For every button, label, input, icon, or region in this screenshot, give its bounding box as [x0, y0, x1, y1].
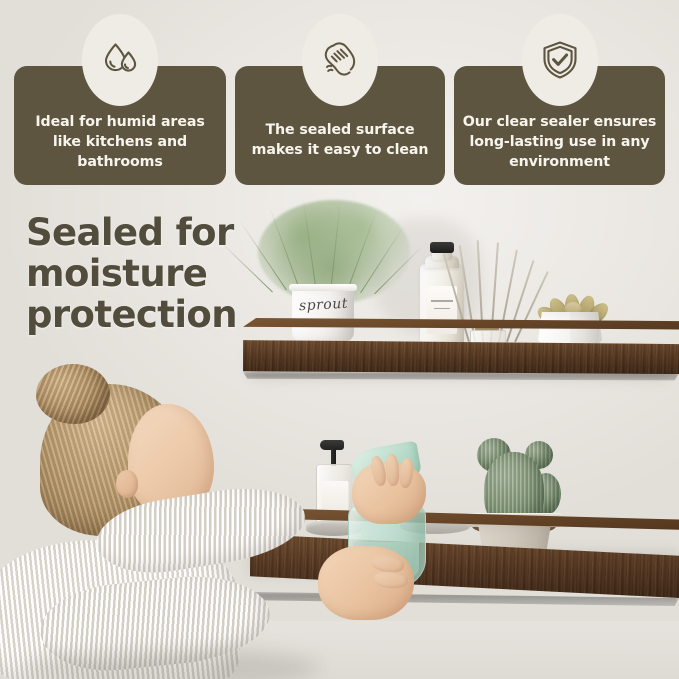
feature-card-humid-areas: Ideal for humid areas like kitchens and … [14, 66, 226, 185]
card-text-line-1: Ideal for humid areas [22, 112, 218, 132]
shield-check-icon [522, 14, 598, 106]
card-text-line-1: The sealed surface [243, 120, 437, 140]
feature-card-text: The sealed surface makes it easy to clea… [243, 120, 437, 160]
shelf-top-surface [250, 508, 679, 542]
girl-ear [116, 470, 138, 498]
headline-line-1: Sealed for [26, 212, 276, 253]
bottle-cap [430, 242, 454, 253]
label-line [434, 308, 451, 309]
card-text-line-2: like kitchens and [22, 132, 218, 152]
wood-grain [250, 534, 679, 598]
label-line [431, 300, 453, 302]
shelf-front-edge [250, 534, 679, 598]
feature-card-easy-to-clean: The sealed surface makes it easy to clea… [235, 66, 445, 185]
shelf-top-surface [243, 318, 679, 344]
feature-card-text: Our clear sealer ensures long-lasting us… [462, 112, 657, 172]
card-text-line-3: environment [462, 152, 657, 172]
girl-hair-bun [36, 364, 110, 424]
feature-card-row: Ideal for humid areas like kitchens and … [0, 0, 679, 200]
hand-wiping-cloth-icon [302, 14, 378, 106]
card-text-line-2: long-lasting use in any [462, 132, 657, 152]
headline-line-2: moisture [26, 253, 276, 294]
pot-script-label: sprout [299, 296, 349, 315]
shelf-front-edge [243, 340, 679, 374]
page-title: Sealed for moisture protection [26, 212, 276, 335]
lower-shelf [250, 508, 679, 644]
pot-rim [289, 284, 357, 291]
feature-card-clear-sealer: Our clear sealer ensures long-lasting us… [454, 66, 665, 185]
shelf-underside-shadow [243, 372, 679, 384]
feature-card-text: Ideal for humid areas like kitchens and … [22, 112, 218, 172]
upper-shelf [243, 318, 679, 388]
wood-grain [243, 340, 679, 374]
headline-line-3: protection [26, 294, 276, 335]
card-text-line-1: Our clear sealer ensures [462, 112, 657, 132]
infographic-page: sprout [0, 0, 679, 679]
card-text-line-2: makes it easy to clean [243, 140, 437, 160]
water-droplets-icon [82, 14, 158, 106]
card-text-line-3: bathrooms [22, 152, 218, 172]
